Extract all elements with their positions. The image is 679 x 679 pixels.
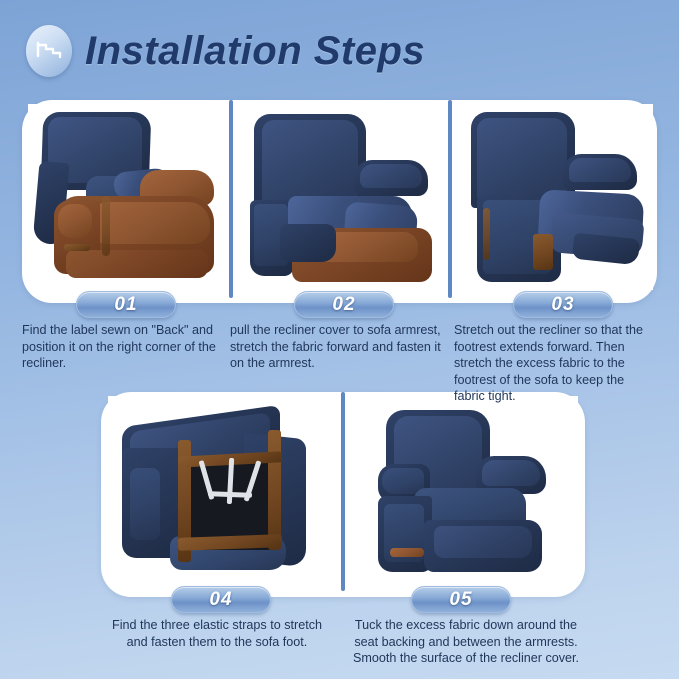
step-caption-01: Find the label sewn on "Back" and positi… [22, 322, 227, 372]
step-image-02 [236, 104, 444, 290]
step-image-01 [28, 104, 226, 290]
step-badge-02: 02 [294, 291, 394, 318]
step-caption-05: Tuck the excess fabric down around the s… [348, 617, 584, 667]
page-title: Installation Steps [85, 29, 425, 74]
step-badge-03: 03 [513, 291, 613, 318]
step-badge-04: 04 [171, 586, 271, 613]
step-caption-03: Stretch out the recliner so that the foo… [454, 322, 657, 405]
page-header: Installation Steps [26, 22, 425, 80]
step-caption-02: pull the recliner cover to sofa armrest,… [230, 322, 445, 372]
panel-divider [229, 100, 233, 298]
recliner-icon [26, 25, 72, 77]
step-image-03 [455, 104, 653, 290]
panel-divider [341, 392, 345, 591]
step-image-05 [348, 396, 578, 584]
step-caption-04: Find the three elastic straps to stretch… [100, 617, 334, 650]
step-badge-01: 01 [76, 291, 176, 318]
step-image-04 [108, 396, 336, 584]
panel-divider [448, 100, 452, 298]
step-badge-05: 05 [411, 586, 511, 613]
